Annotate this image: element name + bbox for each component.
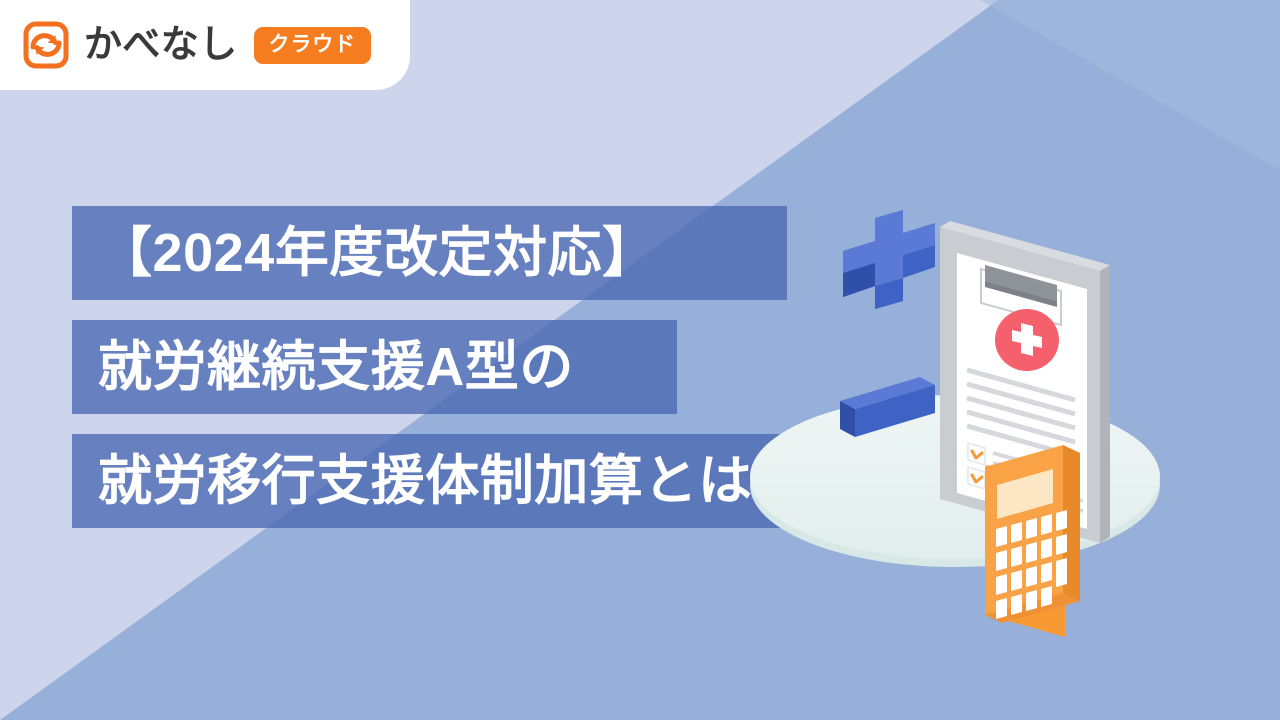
headline-line-1: 【2024年度改定対応】	[72, 206, 787, 300]
headline-line-2: 就労継続支援A型の	[72, 320, 677, 414]
headline-text-2: 就労継続支援A型の	[98, 340, 574, 394]
illustration-group	[735, 185, 1205, 665]
isometric-illustration	[735, 185, 1205, 665]
headline-text-3: 就労移行支援体制加算とは？	[98, 454, 807, 508]
headline-text-1: 【2024年度改定対応】	[98, 226, 657, 280]
calculator-icon	[985, 445, 1080, 637]
plus-sign-icon	[843, 210, 935, 309]
brand-name: かべなし	[84, 26, 238, 64]
kabenashi-logo-mark-icon	[22, 21, 70, 69]
brand-logo-card[interactable]: かべなし クラウド	[0, 0, 410, 90]
brand-badge: クラウド	[254, 27, 371, 64]
eyecatch-canvas: かべなし クラウド 【2024年度改定対応】 就労継続支援A型の 就労移行支援体…	[0, 0, 1280, 720]
medical-cross-icon	[995, 309, 1059, 371]
